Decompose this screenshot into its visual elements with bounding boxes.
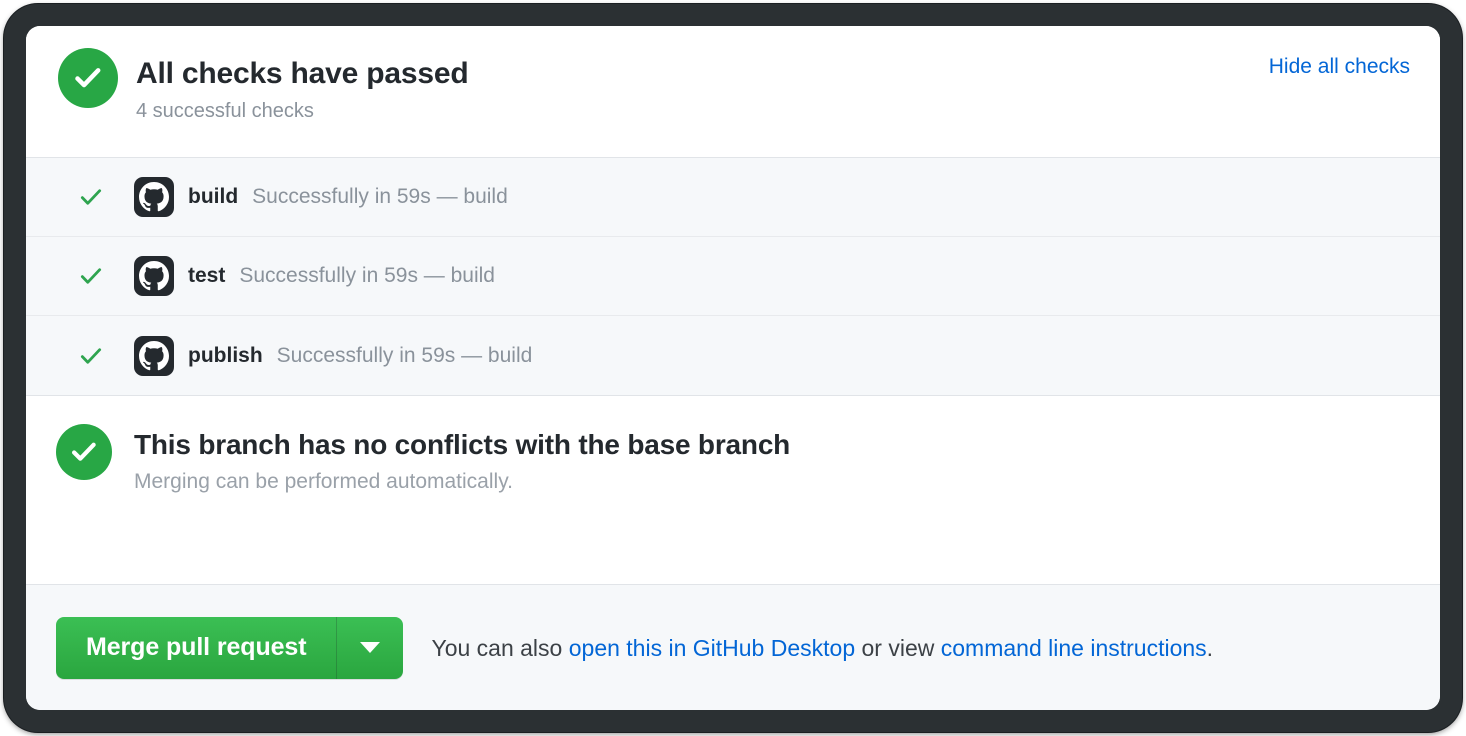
- checks-header-text: All checks have passed 4 successful chec…: [136, 52, 1410, 126]
- merge-help-suffix: .: [1207, 635, 1213, 661]
- check-circle-icon: [58, 48, 118, 108]
- checks-summary: 4 successful checks: [136, 96, 1410, 126]
- check-row[interactable]: test Successfully in 59s — build: [26, 237, 1440, 316]
- github-octocat-icon: [134, 177, 174, 217]
- check-detail: Successfully in 59s — build: [277, 344, 533, 368]
- merge-help-middle: or view: [855, 635, 941, 661]
- check-name: build: [188, 185, 238, 209]
- merge-pull-request-button[interactable]: Merge pull request: [56, 617, 336, 679]
- check-row[interactable]: build Successfully in 59s — build: [26, 158, 1440, 237]
- check-row[interactable]: publish Successfully in 59s — build: [26, 316, 1440, 395]
- branch-status-section: This branch has no conflicts with the ba…: [26, 396, 1440, 585]
- merge-help-text: You can also open this in GitHub Desktop…: [431, 632, 1213, 664]
- chevron-down-icon: [360, 642, 380, 653]
- check-name: test: [188, 264, 225, 288]
- check-icon: [56, 262, 104, 290]
- github-desktop-link[interactable]: open this in GitHub Desktop: [569, 635, 855, 661]
- hide-all-checks-link[interactable]: Hide all checks: [1269, 52, 1410, 82]
- merge-button-group[interactable]: Merge pull request: [56, 617, 403, 679]
- command-line-instructions-link[interactable]: command line instructions: [941, 635, 1207, 661]
- merge-dropdown-button[interactable]: [336, 617, 403, 679]
- github-octocat-icon: [134, 336, 174, 376]
- merge-help-prefix: You can also: [431, 635, 568, 661]
- check-detail: Successfully in 59s — build: [252, 185, 508, 209]
- screenshot-bezel: All checks have passed 4 successful chec…: [4, 4, 1462, 732]
- check-icon: [56, 183, 104, 211]
- check-detail: Successfully in 59s — build: [239, 264, 495, 288]
- checks-list: build Successfully in 59s — build test S…: [26, 158, 1440, 396]
- check-icon: [56, 342, 104, 370]
- branch-status-title: This branch has no conflicts with the ba…: [134, 426, 1410, 464]
- merge-actions-footer: Merge pull request You can also open thi…: [26, 585, 1440, 710]
- check-name: publish: [188, 344, 263, 368]
- branch-status-text: This branch has no conflicts with the ba…: [134, 426, 1410, 498]
- pull-request-merge-box: All checks have passed 4 successful chec…: [26, 26, 1440, 710]
- github-octocat-icon: [134, 256, 174, 296]
- checks-header: All checks have passed 4 successful chec…: [26, 26, 1440, 158]
- check-circle-icon: [56, 424, 112, 480]
- page-title: All checks have passed: [136, 54, 1410, 94]
- branch-status-subtitle: Merging can be performed automatically.: [134, 466, 1410, 498]
